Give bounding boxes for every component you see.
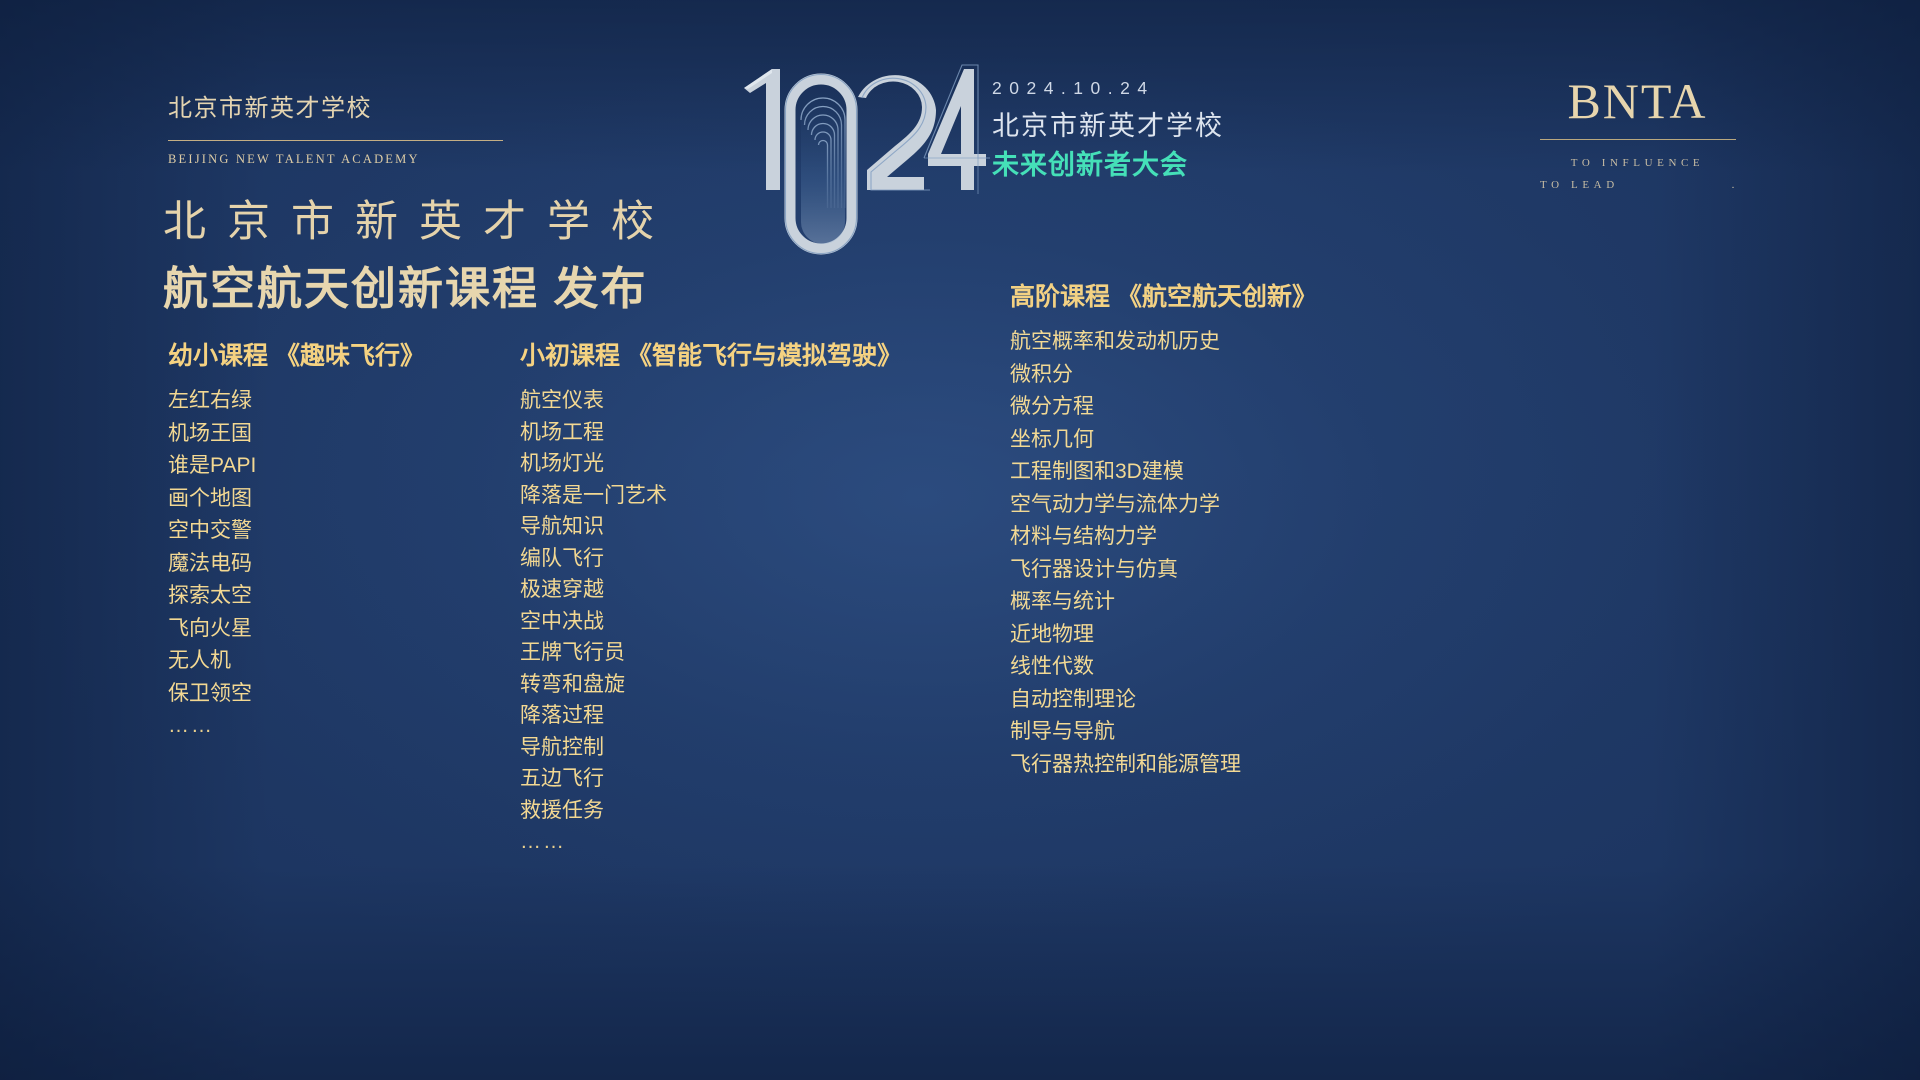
course-item: 探索太空 <box>168 585 498 606</box>
bnta-tagline-period: . <box>1732 174 1739 196</box>
course-list-advanced: 航空概率和发动机历史微积分微分方程坐标几何工程制图和3D建模空气动力学与流体力学… <box>1010 331 1480 775</box>
logo-digit-2 <box>858 75 936 190</box>
bnta-tagline-lead: TO LEAD <box>1540 174 1619 196</box>
poster-stage: 北京市新英才学校 BEIJING NEW TALENT ACADEMY <box>0 0 1920 1080</box>
course-item: 航空概率和发动机历史 <box>1010 331 1480 352</box>
logo-digit-4 <box>924 65 990 194</box>
course-item: 空气动力学与流体力学 <box>1010 494 1480 515</box>
school-divider <box>168 140 503 141</box>
course-item: …… <box>520 831 980 852</box>
course-item: 机场灯光 <box>520 453 980 474</box>
bnta-tagline-influence: TO INFLUENCE <box>1530 152 1745 174</box>
course-column-heading: 幼小课程 《趣味飞行》 <box>168 341 498 371</box>
course-item: 画个地图 <box>168 488 498 509</box>
course-item: 空中交警 <box>168 520 498 541</box>
course-item: 降落是一门艺术 <box>520 485 980 506</box>
course-item: 航空仪表 <box>520 390 980 411</box>
course-item: 自动控制理论 <box>1010 689 1480 710</box>
course-item: 飞行器设计与仿真 <box>1010 559 1480 580</box>
course-item: 制导与导航 <box>1010 721 1480 742</box>
school-lockup: 北京市新英才学校 BEIJING NEW TALENT ACADEMY <box>168 94 528 167</box>
course-column-primary: 幼小课程 《趣味飞行》 左红右绿机场王国谁是PAPI画个地图空中交警魔法电码探索… <box>168 341 498 748</box>
course-list-primary: 左红右绿机场王国谁是PAPI画个地图空中交警魔法电码探索太空飞向火星无人机保卫领… <box>168 390 498 736</box>
course-item: 降落过程 <box>520 705 980 726</box>
course-item: 飞行器热控制和能源管理 <box>1010 754 1480 775</box>
event-school-name: 北京市新英才学校 <box>992 112 1262 142</box>
course-item: 材料与结构力学 <box>1010 526 1480 547</box>
logo-1024 <box>742 58 972 253</box>
course-item: 导航控制 <box>520 737 980 758</box>
course-item: 微积分 <box>1010 364 1480 385</box>
school-name-cn: 北京市新英才学校 <box>168 94 528 124</box>
course-item: 保卫领空 <box>168 683 498 704</box>
page-title: 北京市新英才学校 航空航天创新课程 发布 <box>163 196 675 318</box>
course-column-advanced: 高阶课程 《航空航天创新》 航空概率和发动机历史微积分微分方程坐标几何工程制图和… <box>1010 282 1480 786</box>
course-item: 概率与统计 <box>1010 591 1480 612</box>
course-item: 工程制图和3D建模 <box>1010 461 1480 482</box>
logo-digit-0 <box>786 75 857 254</box>
headline-line-1: 北京市新英才学校 <box>163 196 675 250</box>
course-column-heading: 小初课程 《智能飞行与模拟驾驶》 <box>520 341 980 371</box>
course-item: 机场工程 <box>520 422 980 443</box>
course-item: …… <box>168 715 498 736</box>
event-theme: 未来创新者大会 <box>992 151 1262 181</box>
course-item: 谁是PAPI <box>168 455 498 476</box>
course-item: 飞向火星 <box>168 618 498 639</box>
course-item: 救援任务 <box>520 800 980 821</box>
course-item: 五边飞行 <box>520 768 980 789</box>
course-item: 极速穿越 <box>520 579 980 600</box>
course-item: 导航知识 <box>520 516 980 537</box>
course-item: 近地物理 <box>1010 624 1480 645</box>
course-column-heading: 高阶课程 《航空航天创新》 <box>1010 282 1480 312</box>
course-list-middle: 航空仪表机场工程机场灯光降落是一门艺术导航知识编队飞行极速穿越空中决战王牌飞行员… <box>520 390 980 852</box>
event-date: 2024.10.24 <box>992 80 1262 98</box>
bnta-divider <box>1540 139 1736 140</box>
course-item: 转弯和盘旋 <box>520 674 980 695</box>
course-item: 微分方程 <box>1010 396 1480 417</box>
course-column-middle: 小初课程 《智能飞行与模拟驾驶》 航空仪表机场工程机场灯光降落是一门艺术导航知识… <box>520 341 980 863</box>
course-item: 左红右绿 <box>168 390 498 411</box>
school-name-en: BEIJING NEW TALENT ACADEMY <box>168 152 528 167</box>
course-item: 魔法电码 <box>168 553 498 574</box>
bnta-wordmark: BNTA <box>1530 76 1745 126</box>
logo-digit-1 <box>744 69 780 190</box>
event-meta: 2024.10.24 北京市新英才学校 未来创新者大会 <box>992 80 1262 181</box>
headline-line-2: 航空航天创新课程 发布 <box>163 260 675 319</box>
bnta-logo: BNTA TO INFLUENCE TO LEAD . <box>1530 76 1745 196</box>
course-item: 无人机 <box>168 650 498 671</box>
course-item: 编队飞行 <box>520 548 980 569</box>
course-item: 空中决战 <box>520 611 980 632</box>
bnta-tagline-lead-row: TO LEAD . <box>1530 174 1745 196</box>
course-item: 机场王国 <box>168 423 498 444</box>
course-item: 线性代数 <box>1010 656 1480 677</box>
course-item: 王牌飞行员 <box>520 642 980 663</box>
course-item: 坐标几何 <box>1010 429 1480 450</box>
